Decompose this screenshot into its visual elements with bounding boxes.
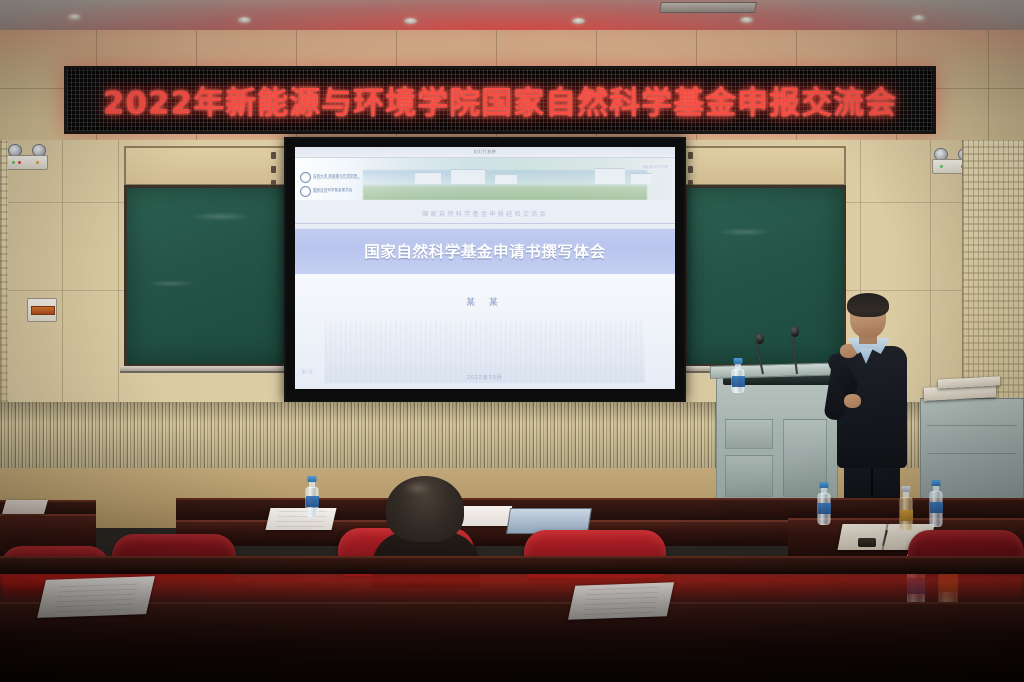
podium-panel — [725, 419, 773, 449]
ceiling-light — [572, 18, 585, 24]
slide-surface: 幻灯片放映 吉林大学 新能源与环境学院 College of New Energ… — [295, 147, 675, 389]
ceiling-light — [740, 17, 753, 23]
chalkboard-left — [124, 185, 290, 367]
bottle-label — [900, 510, 913, 521]
bottle-label — [930, 502, 943, 513]
presenter-hand-chest — [844, 394, 861, 408]
bottle-body — [900, 497, 913, 531]
paper-text-lines — [275, 511, 326, 528]
slide-subtitle: 国家自然科学基金申报经验交流会 — [295, 209, 675, 218]
fire-alarm-strip-icon — [31, 306, 55, 315]
attendee-head — [386, 476, 464, 542]
slide-divider — [295, 223, 675, 224]
chalk-tray-left — [120, 366, 294, 373]
paper-text-lines — [583, 587, 660, 615]
logo-row-university: 吉林大学 新能源与环境学院 College of New Energy and … — [300, 172, 366, 183]
paper-text-lines — [53, 581, 138, 613]
chalkboard-right — [684, 185, 846, 367]
podium-panel — [725, 455, 773, 497]
board-upper-wood-panel — [684, 146, 846, 186]
slide-logos: 吉林大学 新能源与环境学院 College of New Energy and … — [300, 172, 366, 200]
bottle-body — [818, 493, 831, 525]
bottle-label — [818, 503, 831, 514]
bottle-body — [732, 369, 745, 393]
paper-front-center[interactable] — [568, 582, 674, 619]
nsfc-seal-icon — [300, 186, 311, 197]
ceiling — [0, 0, 1024, 32]
slide-title: 国家自然科学基金申请书撰写体会 — [364, 240, 606, 262]
slide-page-tag: 第 1 页 — [299, 368, 316, 375]
bottle-label — [306, 496, 319, 507]
front-desk — [0, 602, 1024, 682]
paper-left-desk[interactable] — [2, 500, 48, 514]
slide-header-banner: 吉林大学 新能源与环境学院 College of New Energy and … — [295, 158, 675, 200]
emergency-light-body — [6, 155, 48, 170]
slide-body: 某 某 2022年03月 第 1 页 — [295, 274, 675, 389]
microphone-head-right — [791, 326, 799, 337]
slide-topbar: 幻灯片放映 — [295, 147, 675, 158]
board-upper-wood-panel — [124, 146, 290, 186]
logo-en-line-1: College of New Energy and Environment — [313, 178, 366, 181]
bottle-body — [930, 491, 943, 527]
ceiling-light — [238, 17, 251, 23]
board-clip — [688, 152, 693, 159]
front-desk-top — [0, 556, 1024, 574]
led-banner-text: 2022年新能源与环境学院国家自然科学基金申报交流会 — [67, 78, 933, 123]
desk-small-object[interactable] — [858, 538, 876, 547]
paper-back-row-center[interactable] — [265, 508, 336, 530]
university-seal-icon — [300, 172, 311, 183]
bottle-label — [732, 376, 745, 387]
acoustic-panel-left — [0, 140, 8, 402]
slide-topbar-label: 幻灯片放映 — [474, 149, 497, 155]
microphone-head-left — [756, 333, 764, 344]
logo-row-nsfc: 国家自然科学基金委员会 NSFC China — [300, 186, 366, 197]
slide-date: 2022年03月 — [295, 374, 675, 381]
logo-en-line-2: NSFC China — [313, 192, 366, 195]
conference-room-photo: 2022年新能源与环境学院国家自然科学基金申报交流会 — [0, 0, 1024, 682]
slide-title-band: 国家自然科学基金申请书撰写体会 — [295, 228, 675, 274]
led-scrolling-banner: 2022年新能源与环境学院国家自然科学基金申报交流会 — [64, 66, 936, 134]
presenter-hair — [847, 293, 889, 317]
fire-alarm-box[interactable] — [27, 298, 57, 322]
board-clip — [271, 166, 276, 173]
projection-screen: 幻灯片放映 吉林大学 新能源与环境学院 College of New Energ… — [284, 137, 686, 403]
ceiling-light — [404, 18, 417, 24]
slide-corner-badge: 新能源与环境学院 — [640, 163, 672, 170]
ceiling-light — [912, 15, 925, 21]
slide-presenter-name: 某 某 — [295, 296, 675, 308]
ceiling-vent — [659, 2, 757, 13]
paper-front-left[interactable] — [37, 576, 155, 618]
ceiling-light — [68, 14, 81, 20]
emergency-light-left — [6, 144, 48, 170]
bottle-body — [306, 487, 319, 517]
board-clip — [688, 166, 693, 173]
board-clip — [271, 152, 276, 159]
